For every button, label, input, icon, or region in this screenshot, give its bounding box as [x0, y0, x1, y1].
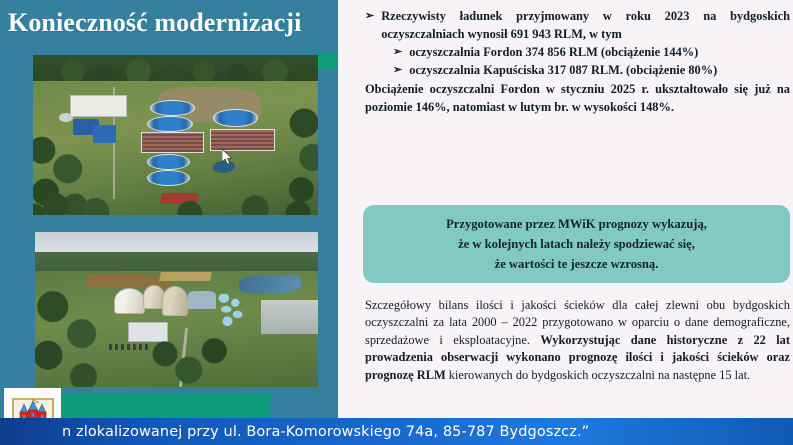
arrow-bullet-icon: ➢ — [393, 44, 402, 62]
highlight-line: że w kolejnych latach należy spodziewać … — [458, 235, 695, 254]
caption-banner: n zlokalizowanej przy ul. Bora-Komorowsk… — [0, 418, 793, 445]
photo-field — [159, 272, 212, 281]
arrow-bullet-icon: ➢ — [365, 8, 374, 43]
photo-industrial-area — [261, 300, 318, 334]
photo-clarifier — [213, 109, 259, 127]
photo-trees-bottom — [33, 183, 318, 215]
bullet-list: ➢ Rzeczywisty ładunek przyjmowany w roku… — [365, 8, 790, 116]
photo-building-main — [70, 95, 127, 117]
photo-tank-row — [210, 294, 255, 328]
photo-clarifier — [147, 154, 190, 170]
highlight-line: że wartości te jeszcze wzrosną. — [495, 255, 659, 274]
presentation-slide: Konieczność modernizacji — [0, 0, 793, 445]
photo-digester — [162, 286, 187, 315]
lower-text-normal-2: kierowanych do bydgoskich oczyszczalni n… — [446, 368, 751, 382]
caption-text: n zlokalizowanej przy ul. Bora-Komorowsk… — [62, 424, 589, 440]
bullet-level1-text: Rzeczywisty ładunek przyjmowany w roku 2… — [381, 8, 790, 43]
paragraph-bold: Obciążenie oczyszczalni Fordon w styczni… — [365, 81, 790, 116]
content-column: ➢ Rzeczywisty ładunek przyjmowany w roku… — [360, 0, 793, 445]
arrow-bullet-icon: ➢ — [393, 62, 402, 80]
bullet-level2-text: oczyszczalnia Fordon 374 856 RLM (obciąż… — [409, 44, 790, 62]
photo-trees-center — [148, 328, 233, 387]
green-accent-block — [317, 52, 338, 69]
highlight-callout-box: Przygotowane przez MWiK prognozy wykazuj… — [363, 205, 790, 283]
photo-clarifier — [150, 100, 196, 116]
aerial-photo-top — [33, 55, 318, 215]
bullet-item-level2: ➢ oczyszczalnia Fordon 374 856 RLM (obci… — [393, 44, 790, 62]
bullet-item-level2: ➢ oczyszczalnia Kapuściska 317 087 RLM. … — [393, 62, 790, 80]
highlight-line: Przygotowane przez MWiK prognozy wykazuj… — [446, 215, 707, 234]
lower-paragraph: Szczegółowy bilans ilości i jakości ście… — [365, 297, 790, 384]
bullet-sublist: ➢ oczyszczalnia Fordon 374 856 RLM (obci… — [393, 44, 790, 79]
green-footer-bar — [60, 393, 270, 420]
photo-river — [239, 275, 301, 294]
photo-aeration-basin — [141, 132, 204, 153]
photo-aeration-basin — [210, 129, 276, 151]
photo-treeline — [33, 55, 318, 82]
bullet-level2-text: oczyszczalnia Kapuściska 317 087 RLM. (o… — [409, 62, 790, 80]
aerial-photo-bottom — [35, 232, 318, 387]
photo-clarifier — [147, 116, 193, 132]
photo-tank — [59, 113, 73, 123]
bullet-item-level1: ➢ Rzeczywisty ładunek przyjmowany w roku… — [365, 8, 790, 43]
slide-title: Konieczność modernizacji — [8, 7, 338, 39]
photo-trees-left — [35, 285, 120, 387]
